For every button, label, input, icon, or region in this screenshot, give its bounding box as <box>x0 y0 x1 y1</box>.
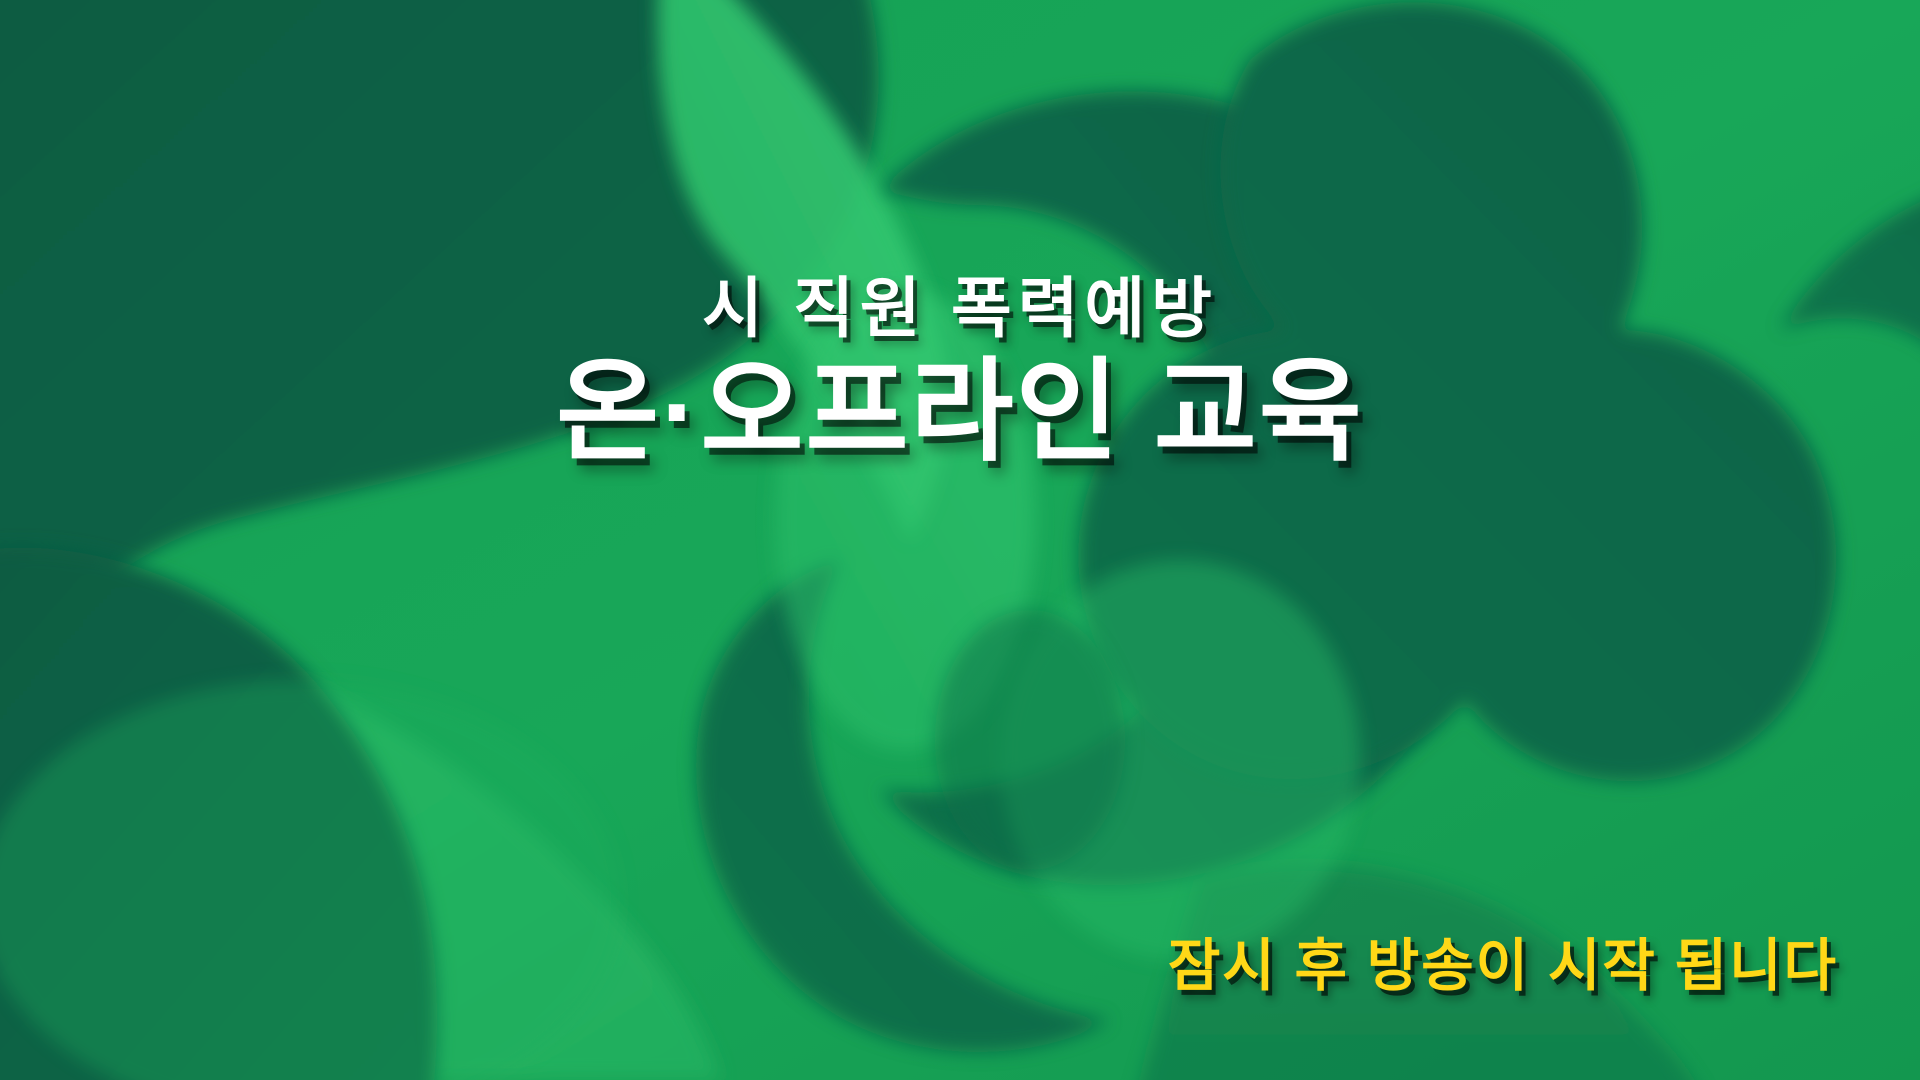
title-subtitle: 시 직원 폭력예방 <box>0 272 1920 346</box>
title-main: 온·오프라인 교육 <box>0 352 1920 473</box>
title-block: 시 직원 폭력예방 온·오프라인 교육 <box>0 272 1920 473</box>
standby-slide: 시 직원 폭력예방 온·오프라인 교육 잠시 후 방송이 시작 됩니다 <box>0 0 1920 1080</box>
text-layer: 시 직원 폭력예방 온·오프라인 교육 잠시 후 방송이 시작 됩니다 <box>0 0 1920 1080</box>
standby-notice: 잠시 후 방송이 시작 됩니다 <box>1168 920 1838 1002</box>
